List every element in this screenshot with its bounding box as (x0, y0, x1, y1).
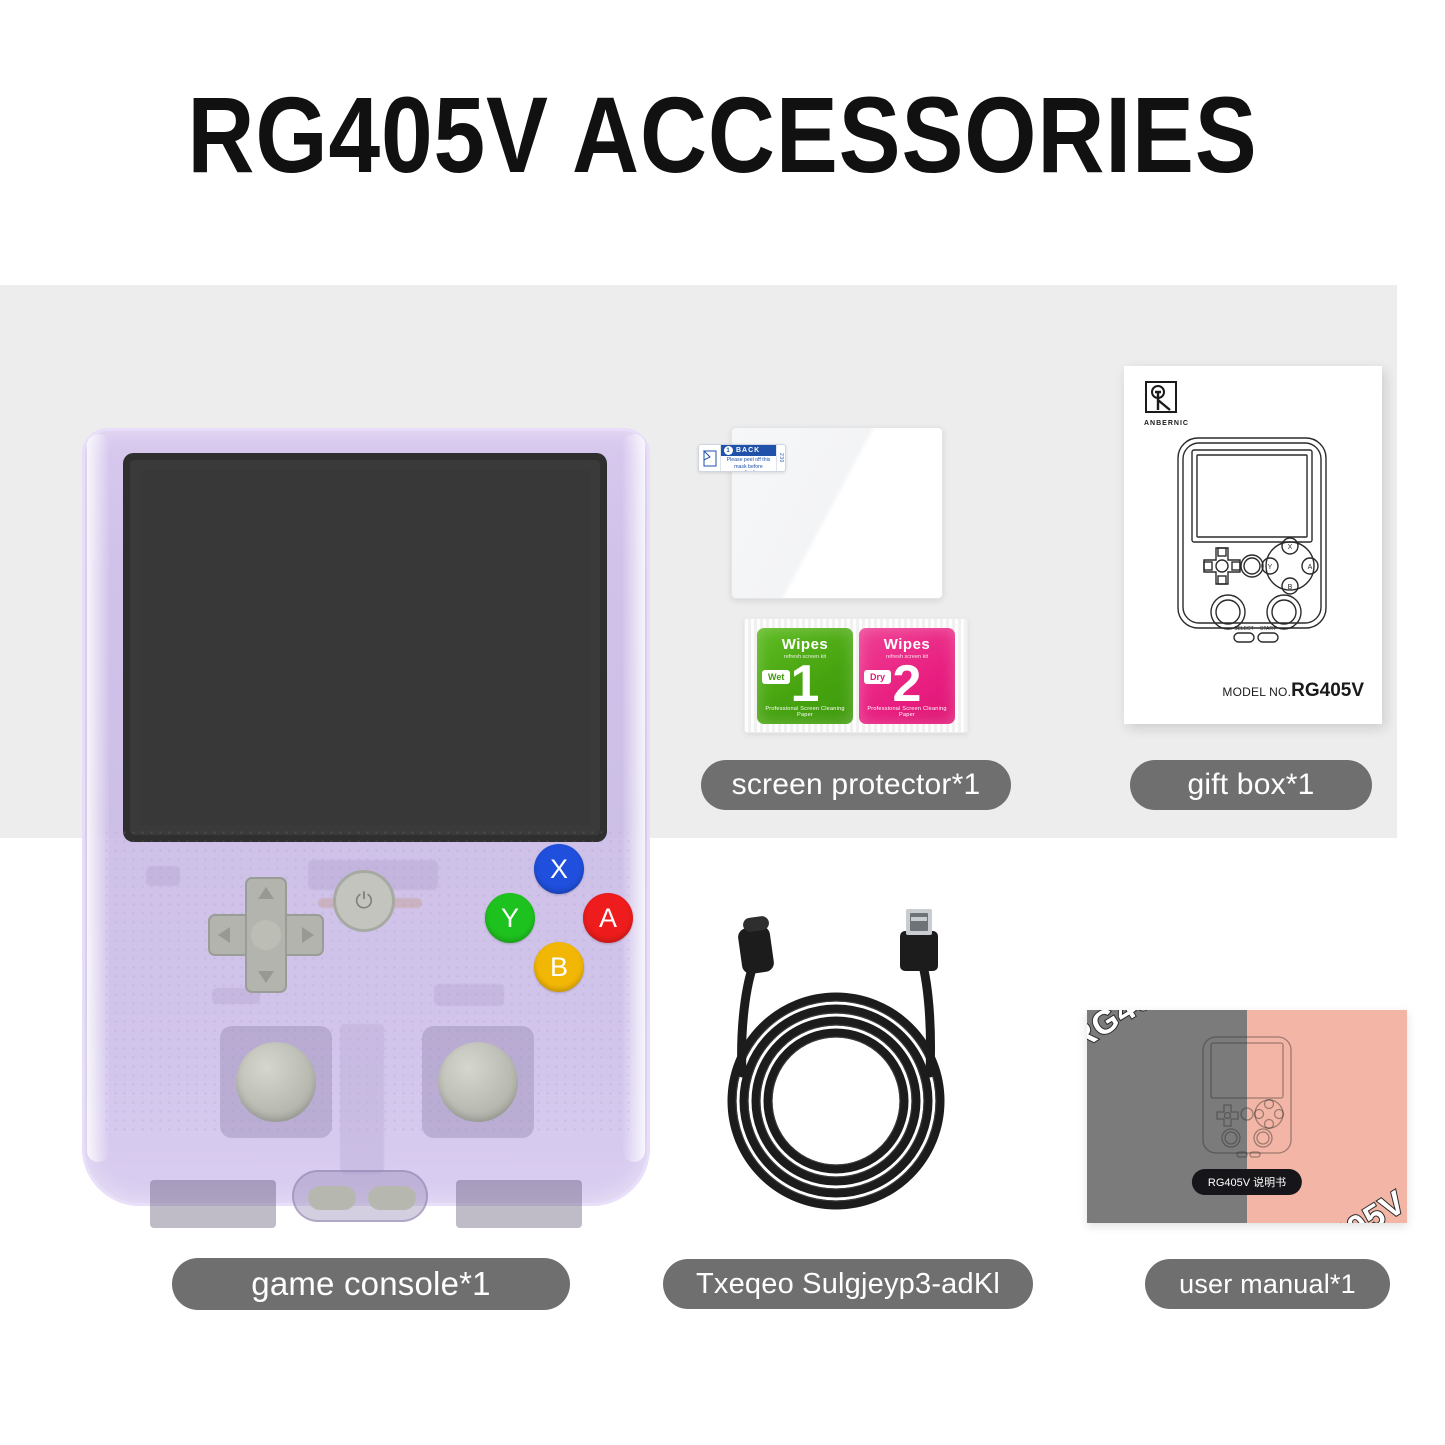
usb-cable-image (720, 905, 952, 1233)
usb-cable-svg (720, 905, 952, 1233)
dry-wipe-footer: Professional Screen Cleaning Paper (859, 706, 955, 718)
console-bottom-vent-right (456, 1180, 582, 1228)
giftbox-button-y-label: Y (1268, 564, 1273, 571)
manual-device-svg (1199, 1034, 1295, 1168)
dpad-up-arrow-icon (258, 887, 274, 899)
label-user-manual: user manual*1 (1145, 1259, 1390, 1309)
wet-wipe-number: 1 (757, 658, 853, 710)
button-a[interactable]: A (583, 893, 633, 943)
usb-a-connector (900, 909, 938, 971)
screen-protector-peel-tab: 1 BACK Please peel off this mask before … (698, 444, 786, 472)
model-prefix: MODEL NO. (1222, 685, 1291, 699)
giftbox-button-b-label: B (1288, 584, 1293, 591)
peel-tab-body: 1 BACK Please peel off this mask before … (721, 445, 776, 471)
anbernic-mark-icon (1144, 380, 1178, 414)
dpad-down-arrow-icon (258, 971, 274, 983)
console-screen (130, 460, 600, 835)
giftbox-button-a-label: A (1308, 564, 1313, 571)
dpad-left-arrow-icon (218, 927, 230, 943)
peel-tab-side-code: 230 (776, 445, 785, 471)
thumbstick-left[interactable] (220, 1026, 332, 1138)
dry-wipe-title: Wipes (859, 636, 955, 653)
manual-title-badge: RG405V 说明书 (1192, 1169, 1302, 1195)
internal-component (340, 1024, 384, 1174)
peel-step-number: 1 (724, 446, 733, 455)
select-start-housing (292, 1170, 428, 1222)
peel-corner-icon (699, 445, 721, 471)
anbernic-wordmark: ANBERNIC (1144, 420, 1196, 427)
page-title: RG405V ACCESSORIES (101, 78, 1344, 191)
cleaning-wipes-pack: Wipes refresh screen kit 1 Wet Professio… (744, 618, 968, 733)
thumbstick-right[interactable] (422, 1026, 534, 1138)
user-manual-image: RG405V RG405V RG405V 说明书 (1087, 1010, 1407, 1223)
giftbox-select-label: SELECT (1234, 626, 1253, 632)
thumbstick-left-cap (236, 1042, 316, 1122)
console-bottom-vent-left (150, 1180, 276, 1228)
peel-tab-back-label: BACK (736, 447, 760, 454)
peel-tab-header: 1 BACK (721, 445, 776, 456)
usb-c-connector (737, 915, 775, 975)
wet-wipe-packet: Wipes refresh screen kit 1 Wet Professio… (757, 628, 853, 724)
dpad-right-arrow-icon (302, 927, 314, 943)
internal-component (146, 866, 180, 886)
label-gift-box: gift box*1 (1130, 760, 1372, 810)
wet-wipe-footer: Professional Screen Cleaning Paper (757, 706, 853, 718)
wet-wipe-title: Wipes (757, 636, 853, 653)
manual-device-linedrawing (1199, 1034, 1295, 1168)
label-cable: Txeqeo Sulgjeyp3-adKl (663, 1259, 1033, 1309)
dpad-center (251, 920, 281, 950)
function-button[interactable]: ⏻ (333, 870, 395, 932)
button-b[interactable]: B (534, 942, 584, 992)
thumbstick-right-cap (438, 1042, 518, 1122)
giftbox-start-label: START (1260, 626, 1276, 632)
dry-wipe-tag: Dry (864, 670, 891, 684)
model-name: RG405V (1291, 680, 1364, 701)
accessories-page: RG405V ACCESSORIES ⏻ (0, 0, 1445, 1445)
gift-box-image: ANBERNIC (1124, 366, 1382, 724)
dpad[interactable] (208, 877, 324, 993)
device-outline-svg: X Y A B SELECT START (1172, 434, 1332, 652)
game-console-image: ⏻ X Y A B (82, 428, 650, 1206)
gift-box-model-text: MODEL NO.RG405V (1222, 680, 1364, 702)
face-button-cluster: X Y A B (478, 842, 638, 1002)
label-screen-protector: screen protector*1 (701, 760, 1011, 810)
anbernic-logo: ANBERNIC (1144, 380, 1196, 427)
start-button[interactable] (368, 1186, 416, 1210)
peel-tab-instruction: Please peel off this mask before applica… (721, 456, 776, 472)
gift-box-device-linedrawing: X Y A B SELECT START (1172, 434, 1332, 652)
dry-wipe-number: 2 (859, 658, 955, 710)
button-y[interactable]: Y (485, 893, 535, 943)
peel-corner-svg (703, 450, 717, 467)
power-icon: ⏻ (355, 888, 372, 914)
giftbox-button-x-label: X (1288, 544, 1293, 551)
label-game-console: game console*1 (172, 1258, 570, 1310)
button-x[interactable]: X (534, 844, 584, 894)
dry-wipe-packet: Wipes refresh screen kit 2 Dry Professio… (859, 628, 955, 724)
wet-wipe-tag: Wet (762, 670, 790, 684)
select-button[interactable] (308, 1186, 356, 1210)
